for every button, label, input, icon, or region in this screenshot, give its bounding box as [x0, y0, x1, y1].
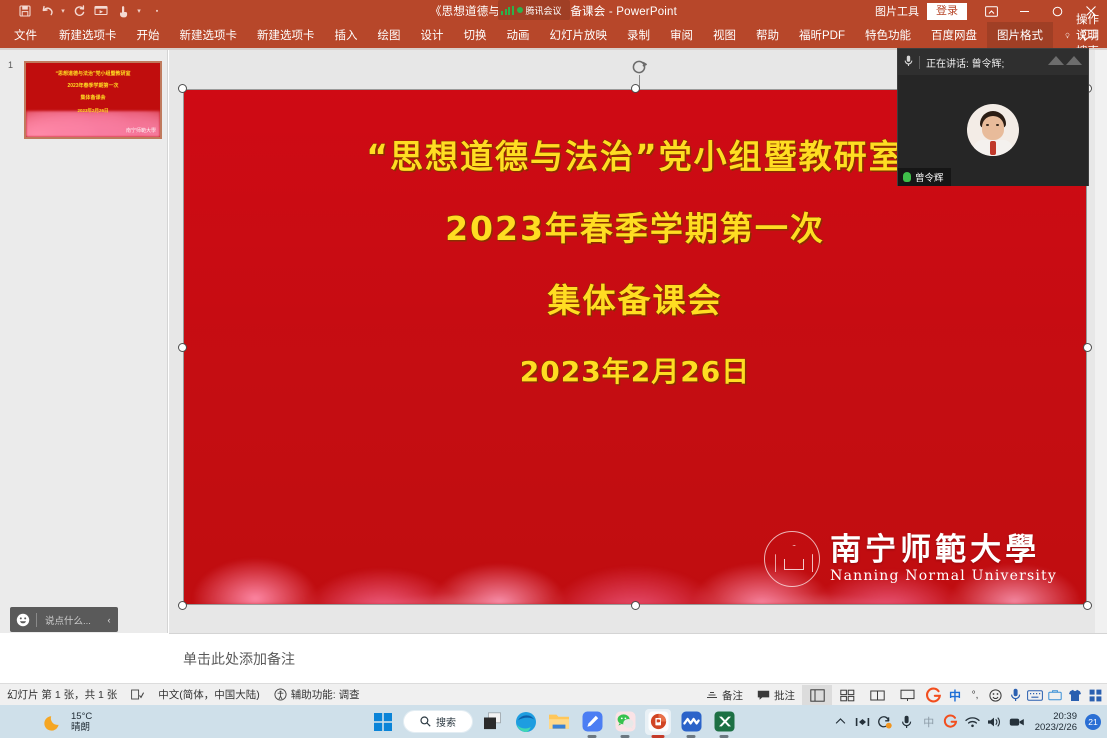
- resize-handle-bottom-right[interactable]: [1083, 601, 1092, 610]
- view-reading-icon[interactable]: [862, 685, 892, 705]
- speaking-status-label: 正在讲话: 曾令辉;: [926, 55, 1004, 70]
- thumbnail-item-1[interactable]: “思想道德与法治”党小组暨教研室 2023年春季学期第一次 集体备课会 2023…: [24, 61, 162, 139]
- title-bar: ▾ ▾ ▪ 《思想道德与法治》课集体备课会 - PowerPoint 图片工具 …: [0, 0, 1107, 22]
- notification-badge[interactable]: 21: [1085, 714, 1101, 730]
- undo-dropdown-icon[interactable]: ▾: [58, 1, 68, 21]
- minimize-icon[interactable]: [1008, 0, 1041, 22]
- accessibility-label: 辅助功能: 调查: [291, 687, 360, 702]
- avatar-face: [982, 115, 1004, 139]
- volume-icon[interactable]: [985, 711, 1005, 733]
- slide-title-line-3: 集体备课会: [183, 275, 1087, 327]
- thumbnail-number: 1: [8, 60, 13, 70]
- wifi-icon[interactable]: [963, 711, 983, 733]
- comment-chat-bubble[interactable]: 说点什么... ‹: [10, 607, 118, 632]
- search-placeholder: 搜索: [436, 714, 456, 729]
- keyboard-icon[interactable]: [1025, 684, 1045, 706]
- status-bar: 幻灯片 第 1 张，共 1 张 中文(简体，中国大陆) 辅助功能: 调查 备注 …: [0, 683, 1107, 705]
- ribbon-right-controls: [1082, 22, 1097, 48]
- show-hidden-icons[interactable]: [831, 711, 851, 733]
- resize-handle-bottom-center[interactable]: [631, 601, 640, 610]
- comment-icon[interactable]: [1082, 29, 1097, 42]
- tencent-meeting-floating-badge[interactable]: 腾讯会议: [498, 0, 570, 20]
- tencent-meeting-logo-icon: [1048, 56, 1082, 65]
- view-normal-icon[interactable]: [802, 685, 832, 705]
- view-slideshow-icon[interactable]: [892, 685, 922, 705]
- tab-help[interactable]: 帮助: [746, 22, 789, 48]
- microsoft-edge-icon[interactable]: [513, 709, 539, 735]
- tab-slideshow[interactable]: 幻灯片放映: [540, 22, 618, 48]
- tab-foxit-pdf[interactable]: 福昕PDF: [789, 22, 855, 48]
- sign-in-button[interactable]: 登录: [927, 3, 967, 20]
- customize-quick-access-icon[interactable]: ▪: [152, 1, 162, 21]
- powerpoint-icon[interactable]: [645, 709, 671, 735]
- header-divider: [919, 56, 920, 69]
- resize-handle-top-left[interactable]: [178, 84, 187, 93]
- chevron-left-icon[interactable]: ‹: [100, 615, 118, 625]
- tab-animations[interactable]: 动画: [497, 22, 540, 48]
- resize-handle-middle-right[interactable]: [1083, 343, 1092, 352]
- tab-home[interactable]: 开始: [127, 22, 170, 48]
- thumb-logo: 南宁师範大學: [126, 127, 156, 134]
- thumb-line4: 2023年2月26日: [26, 106, 160, 115]
- screen-recorder-icon[interactable]: [1007, 711, 1027, 733]
- resize-handle-bottom-left[interactable]: [178, 601, 187, 610]
- chat-input[interactable]: 说点什么...: [37, 613, 100, 627]
- system-tray: 中 20:39 2023/2/26 21: [831, 711, 1101, 733]
- tab-file[interactable]: 文件: [0, 22, 49, 48]
- skin-icon[interactable]: [1065, 684, 1085, 706]
- picture-tools-label: 图片工具: [867, 0, 927, 22]
- touch-mode-icon[interactable]: [112, 1, 134, 21]
- notes-app-icon[interactable]: [579, 709, 605, 735]
- punctuation-icon[interactable]: °,: [965, 684, 985, 706]
- language-label[interactable]: 中文(简体，中国大陆): [151, 687, 267, 702]
- notes-label: 备注: [722, 688, 743, 703]
- slide-date-line: 2023年2月26日: [183, 349, 1087, 395]
- slide-thumbnail-pane: 1 “思想道德与法治”党小组暨教研室 2023年春季学期第一次 集体备课会 20…: [0, 50, 168, 633]
- university-name-block: 南宁师範大學 Nanning Normal University: [830, 533, 1057, 585]
- ribbon-display-options-icon[interactable]: [975, 0, 1008, 22]
- tab-draw[interactable]: 绘图: [368, 22, 411, 48]
- ribbon-tab-bar: 文件 新建选项卡 开始 新建选项卡 新建选项卡 插入 绘图 设计 切换 动画 幻…: [0, 22, 1107, 48]
- resize-handle-top-center[interactable]: [631, 84, 640, 93]
- tab-picture-format[interactable]: 图片格式: [987, 22, 1053, 48]
- university-logo: 南宁师範大學 Nanning Normal University: [764, 531, 1057, 587]
- microphone-icon[interactable]: [904, 55, 913, 70]
- undo-icon[interactable]: [36, 1, 58, 21]
- tab-insert[interactable]: 插入: [325, 22, 368, 48]
- toolbox-icon[interactable]: [1045, 684, 1065, 706]
- touch-mode-dropdown-icon[interactable]: ▾: [134, 1, 144, 21]
- thumbnail-frame: “思想道德与法治”党小组暨教研室 2023年春季学期第一次 集体备课会 2023…: [24, 61, 162, 139]
- tab-record[interactable]: 录制: [617, 22, 660, 48]
- sogou-logo-icon[interactable]: [922, 684, 945, 706]
- windows-start-icon[interactable]: [370, 709, 396, 735]
- menu-icon[interactable]: [1085, 684, 1105, 706]
- avatar-tie: [990, 140, 996, 154]
- clock-time: 20:39: [1035, 711, 1077, 722]
- thumb-line3: 集体备课会: [26, 94, 160, 103]
- university-seal-icon: [764, 531, 820, 587]
- wechat-icon[interactable]: [612, 709, 638, 735]
- tab-new-3[interactable]: 新建选项卡: [247, 22, 325, 48]
- smiley-icon[interactable]: [10, 613, 36, 627]
- tab-transitions[interactable]: 切换: [454, 22, 497, 48]
- input-tool-icon[interactable]: 中: [919, 711, 939, 733]
- notes-placeholder[interactable]: 单击此处添加备注: [183, 649, 295, 669]
- tab-design[interactable]: 设计: [411, 22, 454, 48]
- slide-title-line-2: 2023年春季学期第一次: [183, 203, 1087, 255]
- save-icon[interactable]: [14, 1, 36, 21]
- video-panel-body[interactable]: 曾令辉: [898, 75, 1088, 186]
- resize-handle-middle-left[interactable]: [178, 343, 187, 352]
- comment-bubble-icon: [757, 690, 770, 701]
- redo-icon[interactable]: [68, 1, 90, 21]
- search-icon: [420, 716, 431, 727]
- powerpoint-window: ▾ ▾ ▪ 《思想道德与法治》课集体备课会 - PowerPoint 图片工具 …: [0, 0, 1107, 738]
- spellcheck-icon[interactable]: [124, 689, 151, 701]
- chinese-mode-icon[interactable]: 中: [945, 684, 965, 706]
- accessibility-status[interactable]: 辅助功能: 调查: [267, 687, 367, 702]
- excel-icon[interactable]: [711, 709, 737, 735]
- university-name-en: Nanning Normal University: [830, 567, 1057, 585]
- microphone-active-icon: [903, 172, 911, 182]
- accessibility-icon: [274, 688, 287, 701]
- meeting-app-label: 腾讯会议: [526, 4, 562, 17]
- rotation-handle[interactable]: [631, 58, 649, 76]
- tab-view[interactable]: 视图: [703, 22, 746, 48]
- status-dot-icon: [517, 7, 523, 13]
- clock-date: 2023/2/26: [1035, 722, 1077, 733]
- task-view-icon[interactable]: [480, 709, 506, 735]
- quick-access-toolbar: ▾ ▾ ▪: [0, 1, 162, 21]
- lightbulb-icon: [1065, 29, 1070, 42]
- voice-input-icon[interactable]: [1005, 684, 1025, 706]
- comments-label: 批注: [774, 688, 795, 703]
- file-explorer-icon[interactable]: [546, 709, 572, 735]
- taskbar-clock[interactable]: 20:39 2023/2/26: [1029, 711, 1083, 733]
- tencent-meeting-icon[interactable]: [678, 709, 704, 735]
- editor-scrollbar[interactable]: [1095, 50, 1107, 633]
- avatar-eye-right: [996, 123, 999, 125]
- start-slideshow-icon[interactable]: [90, 1, 112, 21]
- tab-baidu-netdisk[interactable]: 百度网盘: [921, 22, 987, 48]
- onedrive-sync-icon[interactable]: [875, 711, 895, 733]
- notes-toggle-button[interactable]: 备注: [699, 688, 750, 703]
- avatar-eye-left: [986, 123, 989, 125]
- notes-pane[interactable]: 单击此处添加备注: [169, 633, 1107, 683]
- microphone-icon[interactable]: [897, 711, 917, 733]
- tencent-meeting-video-panel[interactable]: 正在讲话: 曾令辉; 曾令辉: [897, 48, 1089, 186]
- thumb-line2: 2023年春季学期第一次: [26, 82, 160, 91]
- participant-name: 曾令辉: [915, 170, 944, 184]
- emoji-icon[interactable]: [985, 684, 1005, 706]
- thumb-line1: “思想道德与法治”党小组暨教研室: [26, 70, 160, 79]
- participant-name-tag: 曾令辉: [898, 168, 951, 186]
- status-bar-right: 备注 批注 中 °,: [699, 684, 1105, 706]
- signal-bars-icon: [501, 6, 514, 15]
- tab-special-features[interactable]: 特色功能: [855, 22, 921, 48]
- slide-count-label: 幻灯片 第 1 张，共 1 张: [0, 687, 124, 702]
- comments-toggle-button[interactable]: 批注: [750, 688, 802, 703]
- taskbar-search-box[interactable]: 搜索: [403, 710, 473, 733]
- university-name-cn: 南宁师範大學: [830, 533, 1057, 567]
- thumbnail-slide-preview: “思想道德与法治”党小组暨教研室 2023年春季学期第一次 集体备课会 2023…: [26, 63, 160, 137]
- tab-review[interactable]: 审阅: [660, 22, 703, 48]
- avatar: [967, 103, 1019, 155]
- tab-new-2[interactable]: 新建选项卡: [170, 22, 248, 48]
- audio-device-icon[interactable]: [853, 711, 873, 733]
- sogou-input-icon[interactable]: [941, 711, 961, 733]
- windows-taskbar: 15°C 晴朗 搜索: [0, 705, 1107, 738]
- tab-new-1[interactable]: 新建选项卡: [49, 22, 127, 48]
- notes-icon: [706, 690, 718, 700]
- video-panel-header: 正在讲话: 曾令辉;: [898, 49, 1088, 75]
- view-slide-sorter-icon[interactable]: [832, 685, 862, 705]
